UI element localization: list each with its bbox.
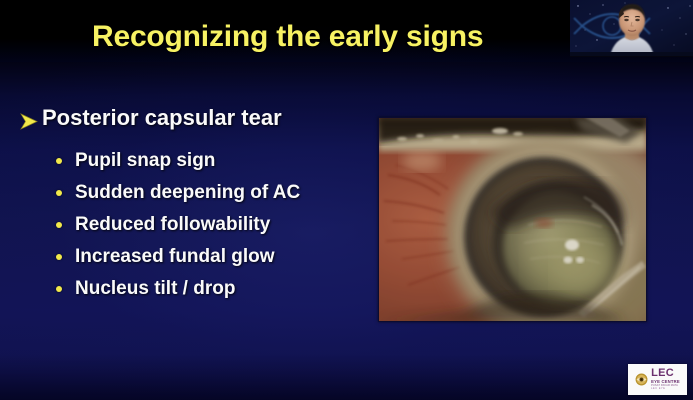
list-item: Increased fundal glow — [56, 241, 368, 273]
sub-bullet-label: Nucleus tilt / drop — [75, 278, 235, 300]
bullet-content-block: Posterior capsular tear Pupil snap sign … — [18, 104, 368, 305]
sub-bullet-label: Reduced followability — [75, 214, 270, 236]
dot-marker-icon — [56, 254, 62, 260]
dot-marker-icon — [56, 222, 62, 228]
lec-eye-centre-logo: LEC EYE CENTRE PUSAT PAKAR MATA LEC EYE — [628, 364, 687, 395]
presenter-webcam-overlay[interactable] — [570, 0, 693, 57]
main-bullet-item: Posterior capsular tear — [18, 104, 368, 136]
list-item: Reduced followability — [56, 209, 368, 241]
dot-marker-icon — [56, 158, 62, 164]
cataract-surgery-microscope-photo — [378, 117, 647, 322]
list-item: Sudden deepening of AC — [56, 177, 368, 209]
slide-title: Recognizing the early signs — [92, 20, 483, 54]
list-item: Nucleus tilt / drop — [56, 273, 368, 305]
dot-marker-icon — [56, 190, 62, 196]
logo-primary-text: LEC — [651, 368, 674, 378]
main-bullet-label: Posterior capsular tear — [42, 104, 282, 132]
arrow-right-marker-icon — [18, 108, 40, 136]
presentation-slide: Recognizing the early signs Posterior ca… — [0, 0, 693, 400]
sub-bullet-label: Pupil snap sign — [75, 150, 215, 172]
dot-marker-icon — [56, 286, 62, 292]
list-item: Pupil snap sign — [56, 145, 368, 177]
eye-logo-icon — [635, 373, 648, 386]
sub-bullet-list: Pupil snap sign Sudden deepening of AC R… — [56, 145, 368, 305]
sub-bullet-label: Sudden deepening of AC — [75, 182, 300, 204]
sub-bullet-label: Increased fundal glow — [75, 246, 275, 268]
logo-quaternary-text: LEC EYE — [651, 387, 665, 390]
